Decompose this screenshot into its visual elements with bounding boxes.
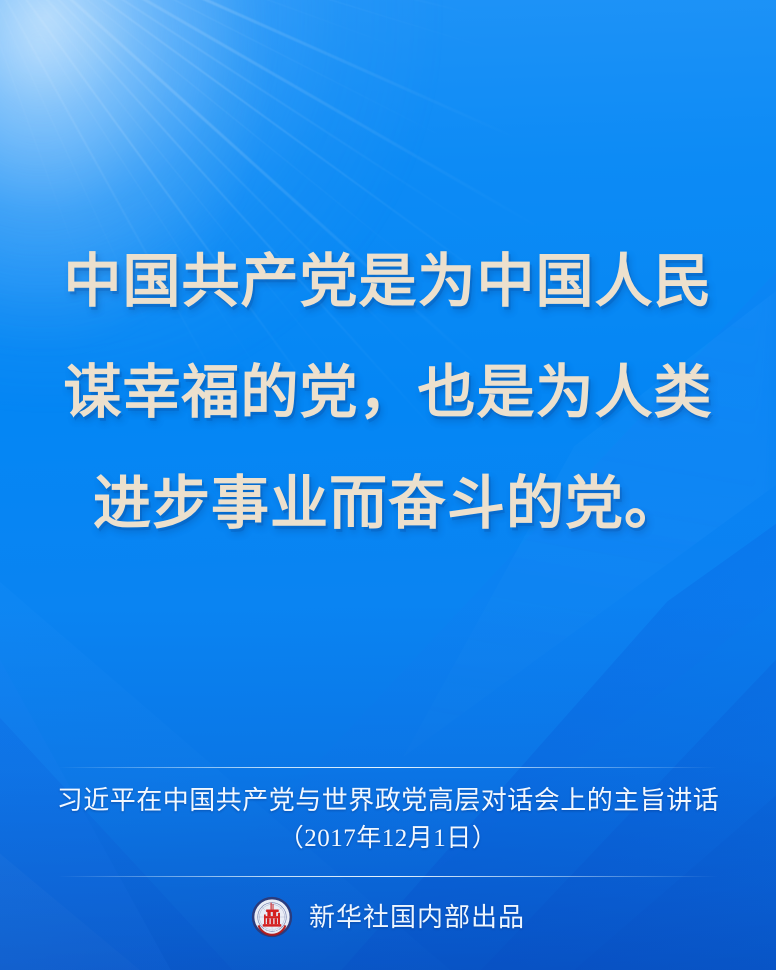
xinhua-emblem-icon: XINHUA — [251, 896, 293, 938]
subtitle-date-line: （2017年12月1日） — [0, 820, 776, 858]
headline-line-2: 谋幸福的党，也是为人类 — [54, 337, 722, 448]
divider-below-subtitle — [58, 876, 718, 877]
quote-poster: 中国共产党是为中国人民 谋幸福的党，也是为人类 进步事业而奋斗的党。 习近平在中… — [0, 0, 776, 970]
quote-headline: 中国共产党是为中国人民 谋幸福的党，也是为人类 进步事业而奋斗的党。 — [0, 226, 776, 559]
divider-above-subtitle — [58, 767, 718, 768]
subtitle-source-line: 习近平在中国共产党与世界政党高层对话会上的主旨讲话 — [0, 782, 776, 820]
headline-line-3: 进步事业而奋斗的党。 — [54, 448, 722, 559]
credit-text: 新华社国内部出品 — [309, 896, 525, 938]
svg-text:XINHUA: XINHUA — [264, 928, 280, 932]
headline-line-1: 中国共产党是为中国人民 — [54, 226, 722, 337]
subtitle-block: 习近平在中国共产党与世界政党高层对话会上的主旨讲话 （2017年12月1日） — [0, 782, 776, 858]
credit-row: XINHUA 新华社国内部出品 — [0, 896, 776, 938]
